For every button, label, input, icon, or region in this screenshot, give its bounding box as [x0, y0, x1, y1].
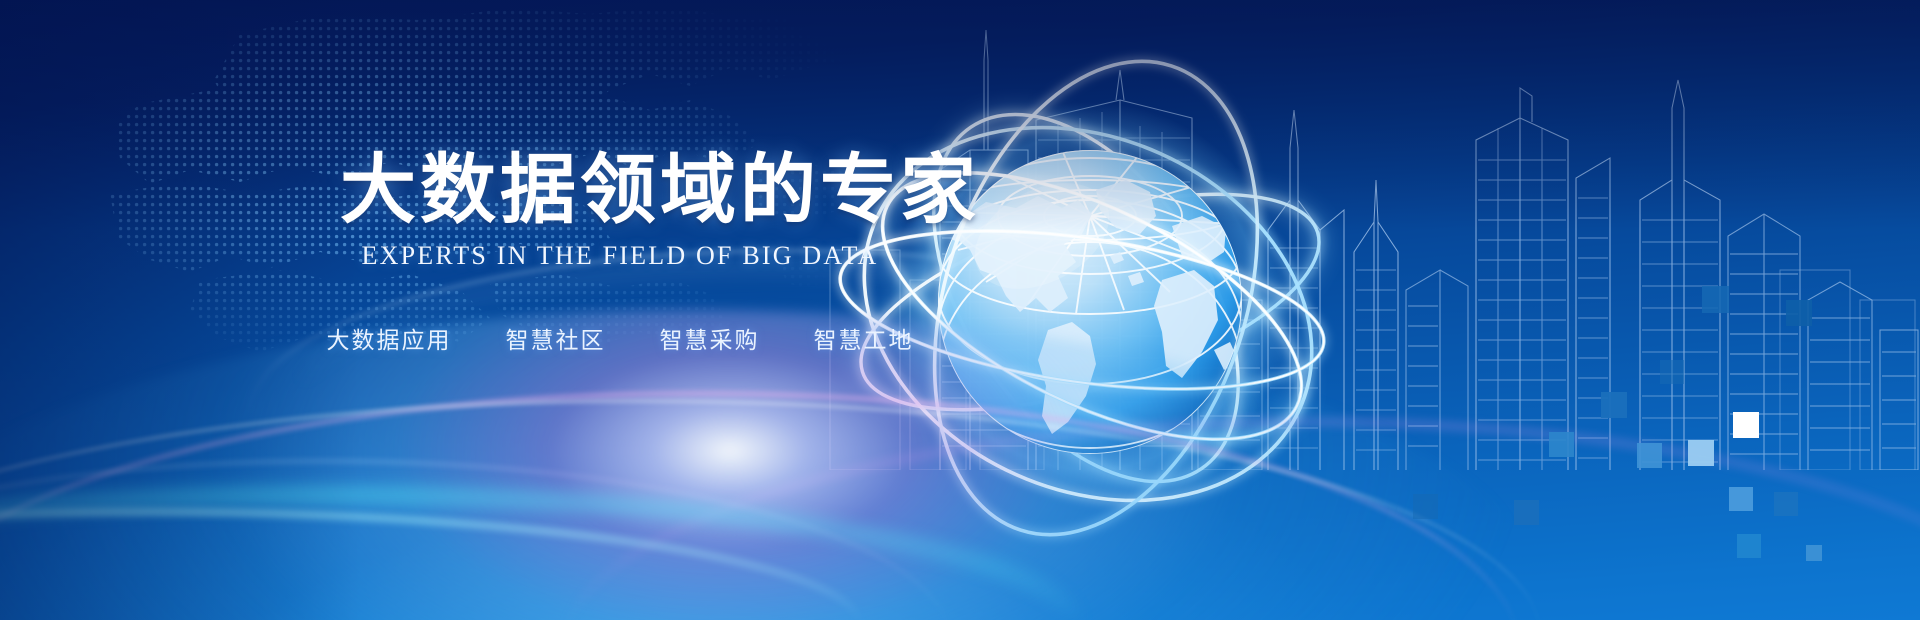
- big-data-banner: 大数据领域的专家 EXPERTS IN THE FIELD OF BIG DAT…: [0, 0, 1920, 620]
- decorative-square-14: [1737, 534, 1761, 558]
- decorative-square-12: [1774, 492, 1798, 516]
- decorative-square-5: [1549, 432, 1574, 457]
- nav-item-3[interactable]: 智慧工地: [814, 321, 914, 355]
- decorative-square-6: [1637, 443, 1662, 468]
- decorative-square-11: [1729, 487, 1753, 511]
- decorative-square-17: [1413, 494, 1438, 519]
- banner-subtitle: EXPERTS IN THE FIELD OF BIG DATA: [340, 241, 900, 271]
- page-title: 大数据领域的专家: [340, 150, 900, 229]
- decorative-square-7: [1688, 440, 1714, 466]
- nav-item-1[interactable]: 智慧社区: [506, 321, 606, 355]
- decorative-square-1: [1786, 300, 1812, 326]
- decorative-square-15: [1806, 545, 1822, 561]
- banner-copy: 大数据领域的专家 EXPERTS IN THE FIELD OF BIG DAT…: [340, 150, 900, 355]
- cyan-light-arc-icon: [0, 510, 860, 620]
- decorative-square-0: [1702, 286, 1729, 313]
- decorative-square-4: [1733, 412, 1759, 438]
- nav-item-2[interactable]: 智慧采购: [660, 321, 760, 355]
- decorative-square-2: [1660, 360, 1684, 384]
- decorative-square-3: [1601, 392, 1627, 418]
- light-arc-far-icon: [0, 460, 950, 620]
- banner-nav: 大数据应用智慧社区智慧采购智慧工地: [340, 321, 900, 355]
- nav-item-0[interactable]: 大数据应用: [327, 321, 452, 355]
- decorative-square-10: [1514, 500, 1539, 525]
